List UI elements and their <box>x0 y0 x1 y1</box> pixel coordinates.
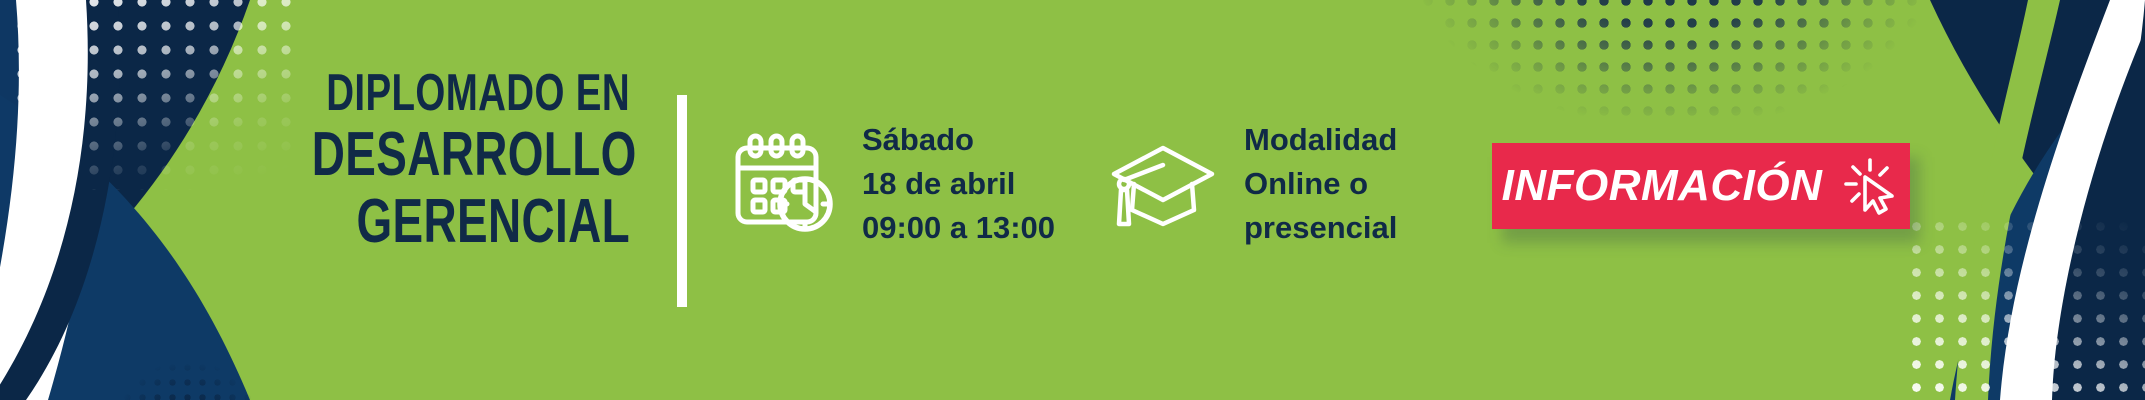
mode-option-2: presencial <box>1244 206 1397 250</box>
date-info-group: Sábado 18 de abril 09:00 a 13:00 <box>728 118 1055 250</box>
date-text-block: Sábado 18 de abril 09:00 a 13:00 <box>862 118 1055 250</box>
mode-info-group: Modalidad Online o presencial <box>1108 118 1397 250</box>
cta-wrapper: INFORMACIÓN <box>1492 143 1910 229</box>
date-day-month: 18 de abril <box>862 162 1055 206</box>
banner-content: DIPLOMADO EN DESARROLLO GERENCIAL <box>0 0 2145 400</box>
mode-option-1: Online o <box>1244 162 1397 206</box>
date-time-range: 09:00 a 13:00 <box>862 206 1055 250</box>
headline-line-3: GERENCIAL <box>312 192 630 253</box>
date-weekday: Sábado <box>862 118 1055 162</box>
cta-label: INFORMACIÓN <box>1502 161 1823 211</box>
headline-line-2: DESARROLLO <box>312 125 630 186</box>
mode-text-block: Modalidad Online o presencial <box>1244 118 1397 250</box>
promo-banner: DIPLOMADO EN DESARROLLO GERENCIAL <box>0 0 2145 400</box>
click-cursor-icon <box>1840 156 1900 216</box>
vertical-divider <box>677 95 687 307</box>
mode-title: Modalidad <box>1244 118 1397 162</box>
headline-line-1: DIPLOMADO EN <box>312 68 630 119</box>
informacion-button[interactable]: INFORMACIÓN <box>1492 143 1910 229</box>
graduation-cap-icon <box>1108 136 1218 232</box>
headline-block: DIPLOMADO EN DESARROLLO GERENCIAL <box>200 68 630 252</box>
calendar-clock-icon <box>728 132 836 236</box>
